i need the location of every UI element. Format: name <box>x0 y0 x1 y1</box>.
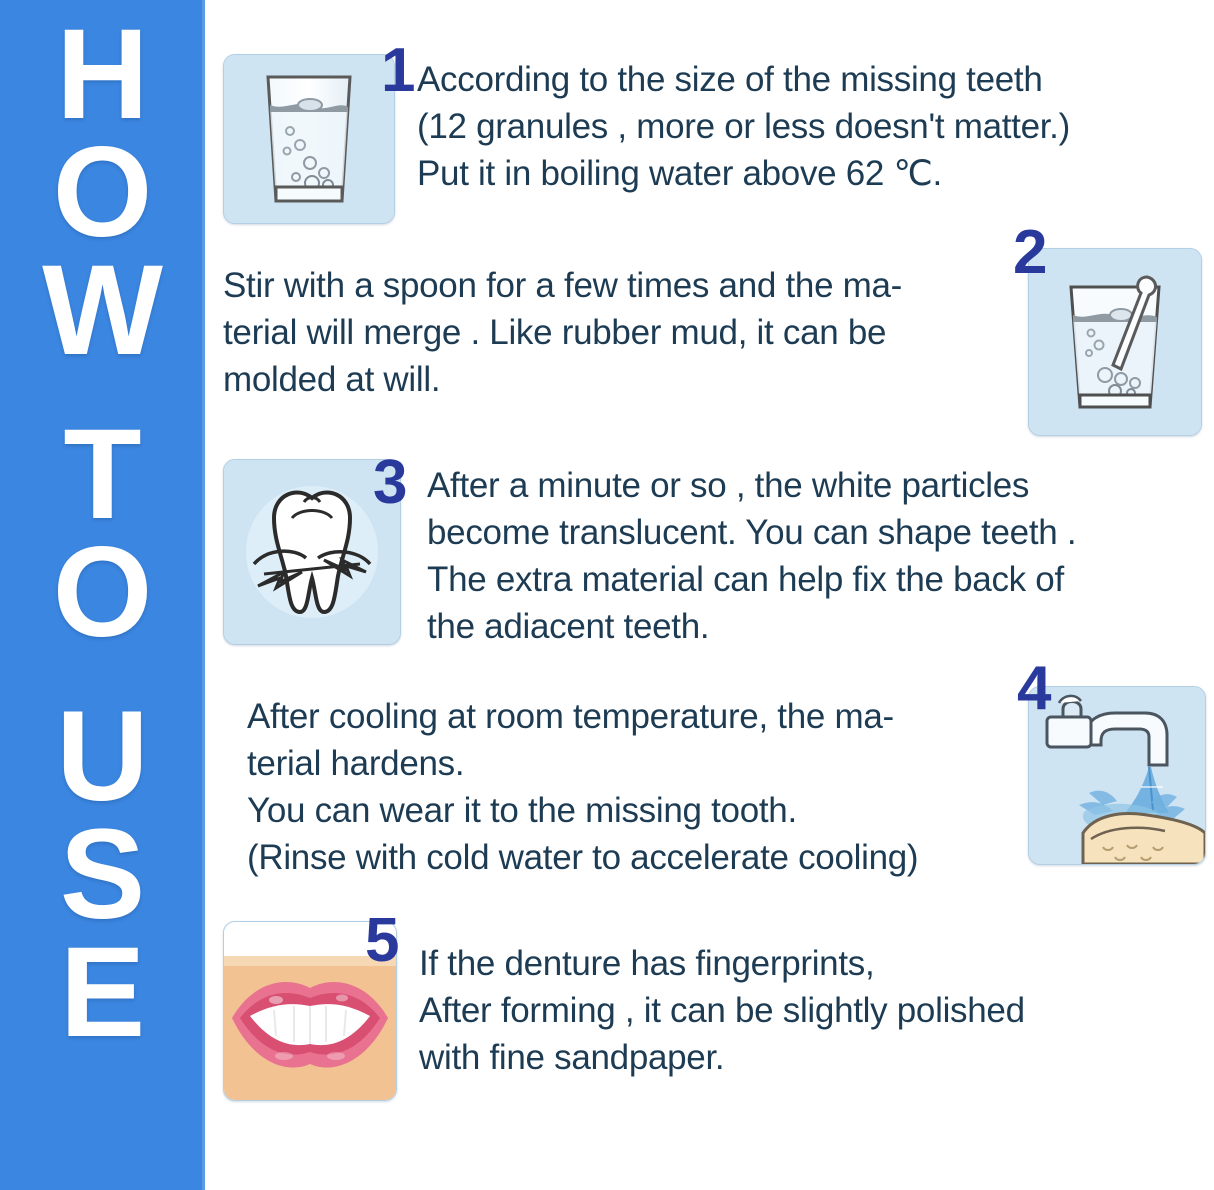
banner-letter-w: W <box>42 252 163 370</box>
how-to-use-infographic: H O W T O U S E <box>0 0 1214 1190</box>
step-text-1: According to the size of the missing tee… <box>417 56 1207 197</box>
how-to-use-banner: H O W T O U S E <box>0 0 205 1190</box>
step-number-3: 3 <box>373 452 407 514</box>
banner-letter-stack: H O W T O U S E <box>0 16 205 1176</box>
steps-column: 1 According to the size of the missing t… <box>205 0 1214 1190</box>
step-number-1: 1 <box>381 40 415 102</box>
banner-letter-h: H <box>56 16 148 134</box>
step-text-4: After cooling at room temperature, the m… <box>247 693 1017 881</box>
banner-letter-e: E <box>60 934 145 1052</box>
glass-with-stirring-spoon-icon <box>1028 248 1202 436</box>
banner-letter-t: T <box>63 416 141 534</box>
step-number-2: 2 <box>1013 222 1047 284</box>
banner-letter-o2: O <box>53 534 153 652</box>
banner-letter-o1: O <box>53 134 153 252</box>
faucet-washing-hands-icon <box>1028 686 1206 865</box>
step-number-5: 5 <box>365 910 399 972</box>
step-text-3: After a minute or so , the white particl… <box>427 462 1207 650</box>
banner-letter-u: U <box>56 698 148 816</box>
banner-letter-s: S <box>60 816 145 934</box>
step-text-2: Stir with a spoon for a few times and th… <box>223 262 1013 403</box>
step-number-4: 4 <box>1017 658 1051 720</box>
step-text-5: If the denture has fingerprints, After f… <box>419 940 1209 1081</box>
glass-of-water-with-granules-icon <box>223 54 395 224</box>
